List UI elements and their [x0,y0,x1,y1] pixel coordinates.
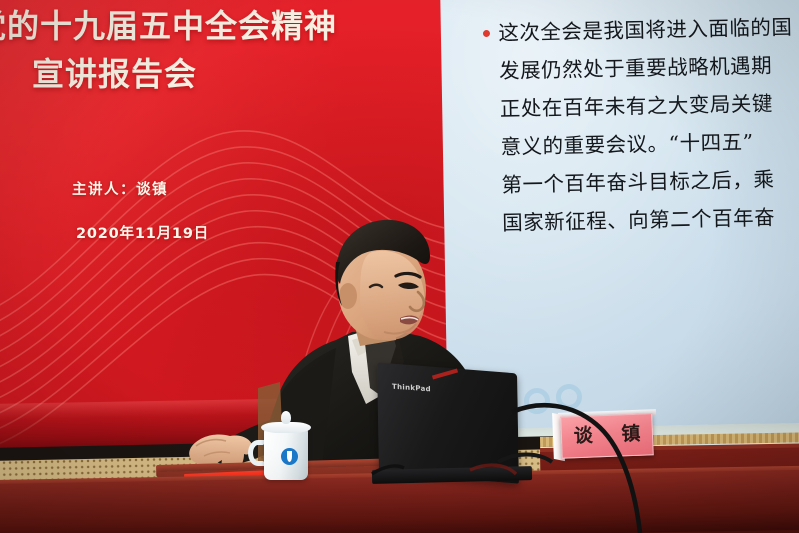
slide-line: 正处在百年未有之大变局关键 [500,83,799,128]
slide-line: 这次全会是我国将进入面临的国 [498,7,799,52]
banner-title-line-1: 党的十九届五中全会精神 [0,7,337,45]
banner-speaker-label: 主讲人：谈镇 [72,178,332,199]
slide-line: 第一个百年奋斗目标之后，乘 [501,159,799,204]
slide-bullet-dot-icon [483,30,490,37]
mug-logo-icon [281,448,298,465]
photo-scene: 这次全会是我国将进入面临的国 发展仍然处于重要战略机遇期 正处在百年未有之大变局… [0,0,799,533]
banner-title-line-2: 宣讲报告会 [0,50,394,98]
slide-line: 国家新征程、向第二个百年奋 [502,197,799,242]
nameplate-text: 谈 镇 [561,418,654,449]
banner-title: 党的十九届五中全会精神 宣讲报告会 [0,2,394,98]
mug-lid-knob [281,411,291,424]
laptop-lid[interactable] [377,362,519,483]
banner-date: 2020年11月19日 [76,222,336,243]
slide-line: 发展仍然处于重要战略机遇期 [499,45,799,90]
slide-text-block: 这次全会是我国将进入面临的国 发展仍然处于重要战略机遇期 正处在百年未有之大变局… [498,7,799,242]
slide-line: 意义的重要会议。“十四五” [500,121,799,166]
